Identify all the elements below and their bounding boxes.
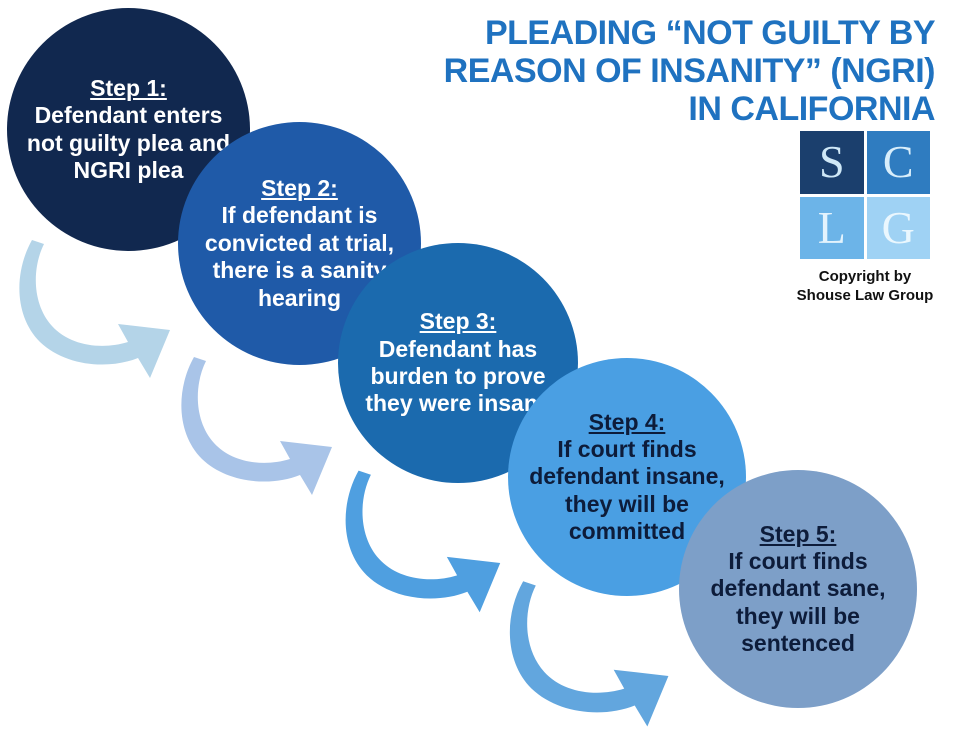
step-5-label: Step 5: bbox=[689, 521, 907, 548]
copyright-line-1: Copyright by bbox=[795, 268, 935, 287]
title-line-2: REASON OF INSANITY” (NGRI) bbox=[355, 52, 935, 90]
arrow-path-4 bbox=[510, 581, 669, 726]
step-5-text: If court finds defendant sane, they will… bbox=[689, 548, 907, 657]
title-line-3: IN CALIFORNIA bbox=[355, 90, 935, 128]
arrow-path-2 bbox=[181, 357, 332, 495]
step-1-label: Step 1: bbox=[17, 75, 240, 102]
copyright-caption: Copyright by Shouse Law Group bbox=[795, 268, 935, 306]
copyright-line-2: Shouse Law Group bbox=[795, 287, 935, 306]
step-2-label: Step 2: bbox=[188, 175, 411, 202]
logo-grid: S C L G bbox=[800, 131, 930, 259]
step-4-label: Step 4: bbox=[518, 409, 736, 436]
arrow-path-1 bbox=[19, 240, 170, 378]
infographic-canvas: PLEADING “NOT GUILTY BY REASON OF INSANI… bbox=[0, 0, 955, 740]
logo-tile-l: L bbox=[800, 197, 864, 260]
flow-arrow-step-2-to-3 bbox=[172, 355, 362, 500]
page-title: PLEADING “NOT GUILTY BY REASON OF INSANI… bbox=[355, 14, 935, 128]
flow-arrow-step-3-to-4 bbox=[336, 468, 531, 618]
flow-arrow-step-4-to-5 bbox=[500, 578, 700, 733]
logo-tile-g: G bbox=[867, 197, 931, 260]
logo-tile-s: S bbox=[800, 131, 864, 194]
title-line-1: PLEADING “NOT GUILTY BY bbox=[355, 14, 935, 52]
logo-tile-c: C bbox=[867, 131, 931, 194]
step-circle-5: Step 5: If court finds defendant sane, t… bbox=[679, 470, 917, 708]
arrow-path-3 bbox=[346, 471, 501, 613]
step-5-content: Step 5: If court finds defendant sane, t… bbox=[679, 521, 917, 658]
shouse-law-group-logo: S C L G Copyright by Shouse Law Group bbox=[795, 131, 935, 306]
step-3-label: Step 3: bbox=[348, 308, 568, 335]
flow-arrow-step-1-to-2 bbox=[10, 238, 200, 383]
